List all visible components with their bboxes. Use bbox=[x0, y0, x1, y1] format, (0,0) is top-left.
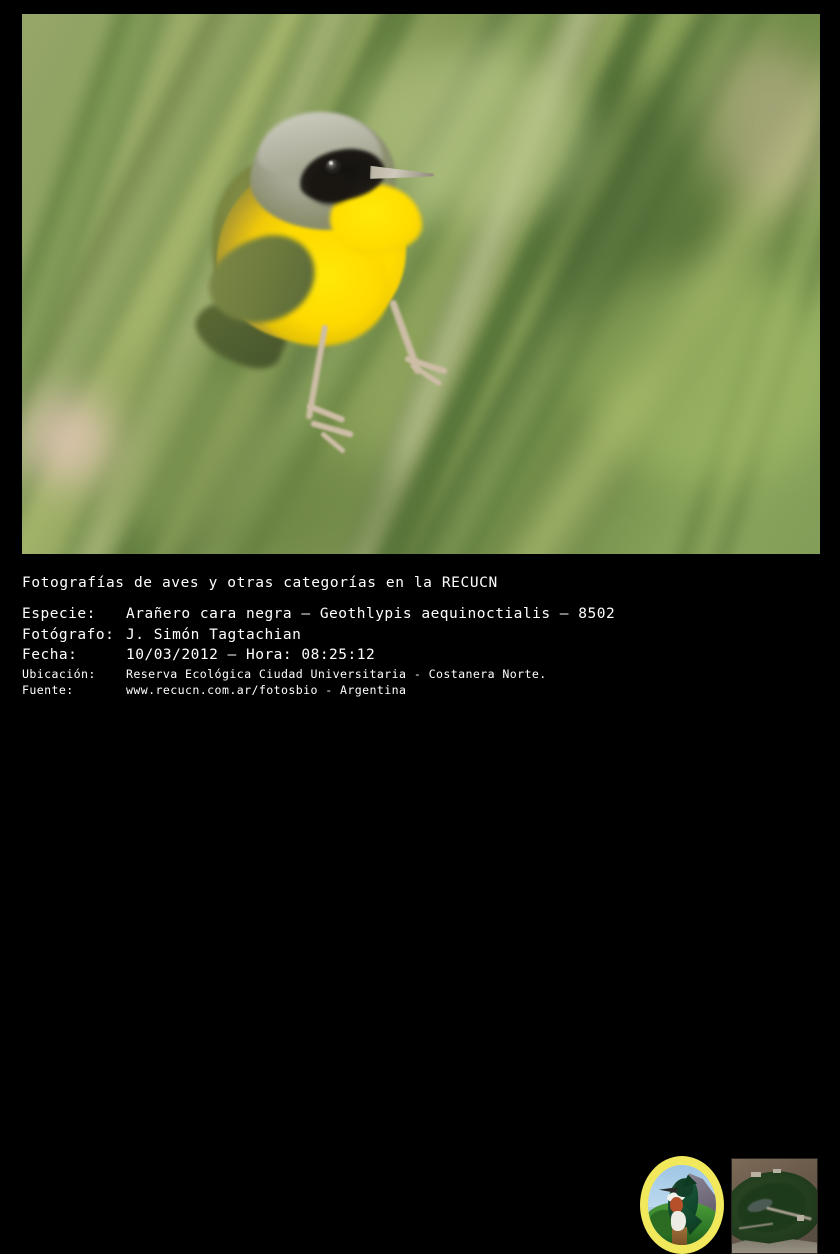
metadata-label-fuente: Fuente: bbox=[22, 682, 126, 699]
aerial-structure bbox=[751, 1172, 761, 1177]
bird-black-mask bbox=[308, 170, 352, 204]
background-highlight bbox=[22, 394, 112, 484]
photo-canvas bbox=[22, 14, 820, 554]
logo-scene bbox=[648, 1165, 716, 1245]
background-highlight bbox=[82, 344, 282, 544]
metadata-value-especie: Arañero cara negra – Geothlypis aequinoc… bbox=[126, 604, 615, 625]
bird-eye bbox=[325, 159, 342, 174]
metadata-row-fuente: Fuente: www.recucn.com.ar/fotosbio - Arg… bbox=[22, 682, 615, 699]
metadata-row-fotografo: Fotógrafo: J. Simón Tagtachian bbox=[22, 625, 615, 646]
logo-kingfisher-belly bbox=[671, 1211, 686, 1230]
aerial-structure bbox=[773, 1169, 781, 1173]
bird-photograph bbox=[22, 14, 820, 554]
metadata-label-fecha: Fecha: bbox=[22, 645, 126, 666]
bird-subject bbox=[202, 110, 442, 370]
metadata-row-ubicacion: Ubicación: Reserva Ecológica Ciudad Univ… bbox=[22, 666, 615, 683]
metadata-value-fuente: www.recucn.com.ar/fotosbio - Argentina bbox=[126, 682, 406, 699]
metadata-label-ubicacion: Ubicación: bbox=[22, 666, 126, 683]
caption-title: Fotografías de aves y otras categorías e… bbox=[22, 575, 498, 591]
aerial-structure bbox=[797, 1215, 804, 1221]
metadata-row-fecha: Fecha: 10/03/2012 – Hora: 08:25:12 bbox=[22, 645, 615, 666]
caption-panel: Fotografías de aves y otras categorías e… bbox=[0, 556, 840, 708]
metadata-value-fecha: 10/03/2012 – Hora: 08:25:12 bbox=[126, 645, 375, 666]
metadata-value-ubicacion: Reserva Ecológica Ciudad Universitaria -… bbox=[126, 666, 547, 683]
metadata-label-especie: Especie: bbox=[22, 604, 126, 625]
recucn-logo-icon bbox=[640, 1156, 724, 1254]
metadata-value-fotografo: J. Simón Tagtachian bbox=[126, 625, 301, 646]
metadata-list: Especie: Arañero cara negra – Geothlypis… bbox=[22, 604, 615, 699]
metadata-row-especie: Especie: Arañero cara negra – Geothlypis… bbox=[22, 604, 615, 625]
photo-caption-page: Fotografías de aves y otras categorías e… bbox=[0, 0, 840, 708]
bird-eye-glint bbox=[329, 161, 333, 165]
metadata-label-fotografo: Fotógrafo: bbox=[22, 625, 126, 646]
background-highlight bbox=[712, 44, 820, 204]
reserve-aerial-thumbnail bbox=[731, 1158, 818, 1254]
